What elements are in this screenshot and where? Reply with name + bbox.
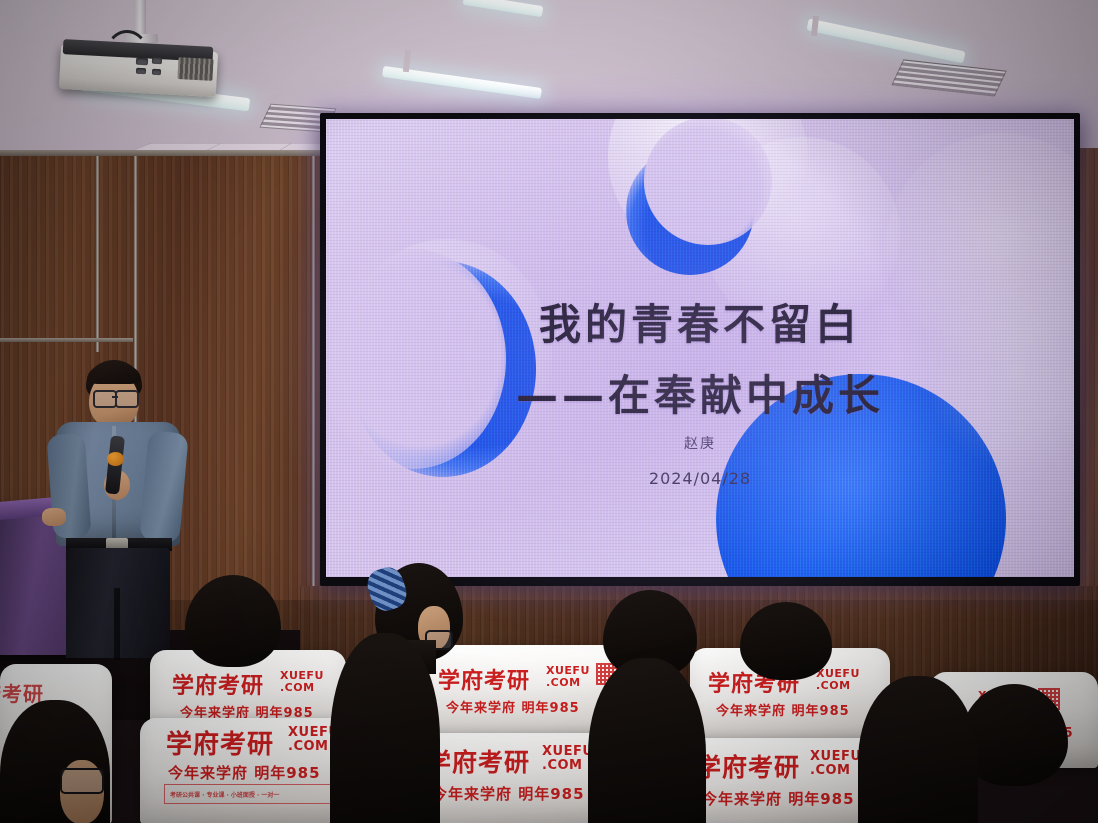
audience-head: [330, 633, 440, 823]
chair-brand-en-bottom: .COM: [816, 680, 851, 692]
glasses-lens-right: [115, 390, 139, 408]
presenter-sleeve-right: [139, 430, 188, 543]
chair-tagline: 今年来学府 明年985: [716, 700, 850, 719]
slide-blob-mask: [644, 119, 772, 245]
chair-tagline: 今年来学府 明年985: [168, 762, 321, 783]
projector-port: [152, 69, 161, 75]
audience-head: [858, 676, 978, 823]
lecture-hall-scene: 我的青春不留白 ——在奉献中成长 赵庚 2024/04/28: [0, 0, 1098, 823]
audience-glasses: [60, 768, 104, 794]
chair-brand-cn: 学府考研: [696, 748, 800, 784]
chair-brand-en-top: XUEFU: [810, 750, 861, 764]
glasses-lens-left: [93, 390, 117, 408]
wall-trim: [0, 150, 340, 156]
slide-author: 赵庚: [326, 433, 1074, 453]
wall-seam: [311, 150, 316, 620]
chair-brand-en-bottom: .COM: [288, 740, 328, 754]
chair-tagline: 今年来学府 明年985: [432, 783, 585, 804]
presenter-glasses: [93, 390, 137, 406]
chair-tagline: 今年来学府 明年985: [446, 697, 580, 716]
chair-brand-cn: 学府考研: [166, 724, 274, 761]
chair-brand-en-bottom: .COM: [542, 759, 582, 773]
microphone-head: [107, 452, 124, 466]
wall-seam: [95, 152, 100, 352]
presentation-slide: 我的青春不留白 ——在奉献中成长 赵庚 2024/04/28: [326, 119, 1074, 577]
presenter-hand-podium: [42, 508, 66, 526]
chair-cover: 学府考研 XUEFU .COM 今年来学府 明年985 考研公共课 · 专业课 …: [140, 718, 356, 823]
slide-date: 2024/04/28: [326, 469, 1074, 488]
chair-brand-cn: 学府考研: [438, 663, 530, 695]
chair-brand-en-bottom: .COM: [280, 682, 315, 694]
projector-vent: [177, 57, 213, 81]
chair-brand-en-bottom: .COM: [546, 677, 581, 689]
audience-head: [588, 658, 706, 823]
slide-title-line-1: 我的青春不留白: [326, 291, 1074, 352]
projector-port: [152, 57, 162, 65]
projector-cable: [104, 30, 150, 76]
glasses-bridge: [112, 396, 118, 398]
chair-brand-cn: 学府考研: [172, 668, 264, 700]
chair-brand-en-top: XUEFU: [546, 665, 590, 677]
led-display-frame: 我的青春不留白 ——在奉献中成长 赵庚 2024/04/28: [320, 113, 1080, 586]
chair-brand-en-top: XUEFU: [542, 745, 593, 759]
presenter-leg-gap: [114, 588, 120, 660]
chair-brand-en-top: XUEFU: [280, 670, 324, 682]
chair-brand-en-bottom: .COM: [810, 764, 850, 778]
wall-trim: [0, 338, 133, 342]
chair-tagline: 今年来学府 明年985: [702, 788, 855, 809]
chair-brand-en-top: XUEFU: [816, 668, 860, 680]
chair-fine-print-box: 考研公共课 · 专业课 · 小班面授 · 一对一: [164, 784, 334, 804]
slide-title-line-2: ——在奉献中成长: [326, 362, 1074, 423]
chair-brand-cn: 学府考研: [426, 743, 530, 779]
chair-fine-print: 考研公共课 · 专业课 · 小班面授 · 一对一: [170, 790, 279, 799]
